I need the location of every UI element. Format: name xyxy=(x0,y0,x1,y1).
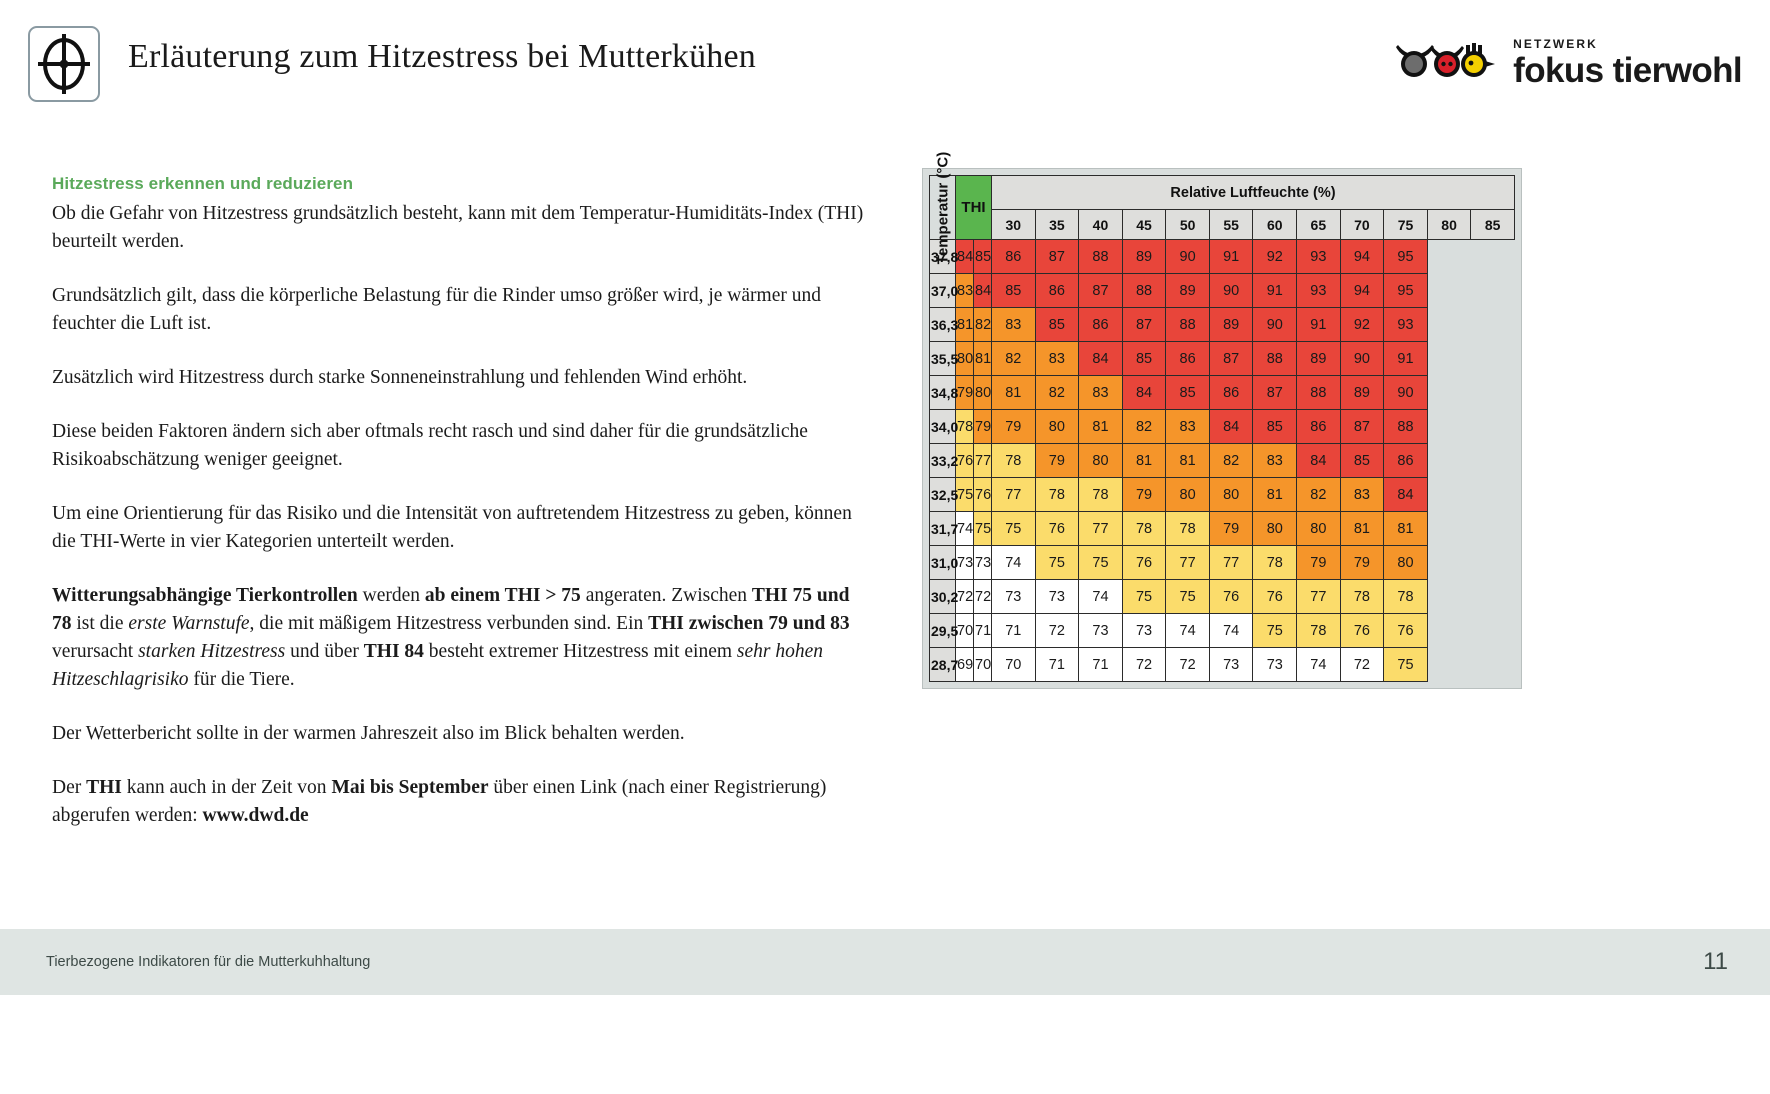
temperature-row-label: 35,5 xyxy=(930,342,956,376)
thi-cell: 90 xyxy=(1166,240,1210,274)
thi-cell: 81 xyxy=(1340,512,1384,546)
thi-cell: 71 xyxy=(1079,648,1123,682)
thi-heatmap-table: Temperatur (°C) THI Relative Luftfeuchte… xyxy=(929,175,1515,682)
thi-cell: 73 xyxy=(1122,614,1166,648)
thi-cell: 79 xyxy=(1035,444,1079,478)
paragraph-1: Ob die Gefahr von Hitzestress grundsätzl… xyxy=(52,200,872,256)
thi-cell: 85 xyxy=(992,274,1036,308)
table-row: 32,5757677787879808081828384 xyxy=(930,478,1515,512)
temperature-row-label: 36,3 xyxy=(930,308,956,342)
brand-logo: NETZWERK fokus tierwohl xyxy=(1392,36,1742,88)
thi-cell: 78 xyxy=(1297,614,1341,648)
thi-cell: 89 xyxy=(1340,376,1384,410)
thi-cell: 84 xyxy=(1122,376,1166,410)
highlight-paragraph: Witterungsabhängige Tierkontrollen werde… xyxy=(52,582,872,694)
thi-cell: 86 xyxy=(1209,376,1253,410)
thi-cell: 77 xyxy=(1297,580,1341,614)
thi-cell: 73 xyxy=(1079,614,1123,648)
thi-cell: 89 xyxy=(1209,308,1253,342)
thi-cell: 90 xyxy=(1340,342,1384,376)
temperature-row-label: 32,5 xyxy=(930,478,956,512)
thi-cell: 81 xyxy=(1079,410,1123,444)
table-row: 37,8848586878889909192939495 xyxy=(930,240,1515,274)
thi-cell: 78 xyxy=(1384,580,1428,614)
hp-s6: ist die xyxy=(72,613,129,634)
thi-cell: 83 xyxy=(956,274,974,308)
thi-cell: 93 xyxy=(1297,240,1341,274)
thi-cell: 88 xyxy=(1384,410,1428,444)
humidity-col-header: 50 xyxy=(1166,210,1210,240)
lp-p3: kann auch in der Zeit von xyxy=(122,777,332,798)
thi-cell: 82 xyxy=(974,308,992,342)
humidity-col-header: 35 xyxy=(1035,210,1079,240)
thi-cell: 91 xyxy=(1209,240,1253,274)
thi-cell: 95 xyxy=(1384,240,1428,274)
thi-cell: 81 xyxy=(1122,444,1166,478)
humidity-col-header: 80 xyxy=(1427,210,1471,240)
thi-cell: 76 xyxy=(974,478,992,512)
table-row: 36,3818283858687888990919293 xyxy=(930,308,1515,342)
thi-cell: 83 xyxy=(992,308,1036,342)
thi-cell: 89 xyxy=(1297,342,1341,376)
thi-table-frame: Temperatur (°C) THI Relative Luftfeuchte… xyxy=(922,168,1522,689)
thi-cell: 73 xyxy=(956,546,974,580)
thi-cell: 94 xyxy=(1340,274,1384,308)
thi-table-zone: Temperatur (°C) THI Relative Luftfeuchte… xyxy=(922,168,1522,689)
thi-cell: 71 xyxy=(992,614,1036,648)
thi-table-head: Temperatur (°C) THI Relative Luftfeuchte… xyxy=(930,176,1515,240)
thi-cell: 83 xyxy=(1079,376,1123,410)
section-subheading: Hitzestress erkennen und reduzieren xyxy=(52,170,872,198)
thi-cell: 93 xyxy=(1297,274,1341,308)
lp-p2: THI xyxy=(86,777,122,798)
paragraph-3: Zusätzlich wird Hitzestress durch starke… xyxy=(52,364,872,392)
thi-cell: 81 xyxy=(974,342,992,376)
thi-cell: 87 xyxy=(1253,376,1297,410)
temperature-row-label: 34,0 xyxy=(930,410,956,444)
page-number: 11 xyxy=(1703,948,1728,976)
logo-text: NETZWERK fokus tierwohl xyxy=(1513,38,1742,88)
thi-cell: 84 xyxy=(1297,444,1341,478)
thi-cell: 77 xyxy=(1166,546,1210,580)
thi-cell: 91 xyxy=(1384,342,1428,376)
thi-cell: 76 xyxy=(1340,614,1384,648)
logo-animal-marks-icon xyxy=(1392,39,1504,86)
thi-cell: 71 xyxy=(974,614,992,648)
thi-cell: 87 xyxy=(1209,342,1253,376)
thi-cell: 71 xyxy=(1035,648,1079,682)
thi-cell: 88 xyxy=(1297,376,1341,410)
thi-cell: 81 xyxy=(1253,478,1297,512)
thi-cell: 75 xyxy=(956,478,974,512)
thi-cell: 82 xyxy=(1209,444,1253,478)
thi-cell: 75 xyxy=(1079,546,1123,580)
thi-cell: 77 xyxy=(1209,546,1253,580)
table-row: 34,8798081828384858687888990 xyxy=(930,376,1515,410)
thi-cell: 85 xyxy=(1253,410,1297,444)
thi-cell: 73 xyxy=(1253,648,1297,682)
thi-cell: 83 xyxy=(1253,444,1297,478)
thi-cell: 80 xyxy=(974,376,992,410)
thi-cell: 86 xyxy=(1166,342,1210,376)
thi-cell: 84 xyxy=(1384,478,1428,512)
thi-cell: 82 xyxy=(1035,376,1079,410)
thi-cell: 91 xyxy=(1297,308,1341,342)
thi-cell: 78 xyxy=(1340,580,1384,614)
humidity-col-header: 55 xyxy=(1209,210,1253,240)
thi-cell: 80 xyxy=(1209,478,1253,512)
thi-cell: 92 xyxy=(1253,240,1297,274)
thi-cell: 86 xyxy=(1079,308,1123,342)
thi-cell: 93 xyxy=(1384,308,1428,342)
humidity-axis-label: Relative Luftfeuchte (%) xyxy=(992,176,1515,210)
logo-main-text: fokus tierwohl xyxy=(1513,53,1742,88)
thi-cell: 85 xyxy=(1340,444,1384,478)
thi-cell: 84 xyxy=(974,274,992,308)
page-footer: Tierbezogene Indikatoren für die Mutterk… xyxy=(0,929,1770,995)
thi-cell: 90 xyxy=(1253,308,1297,342)
thi-cell: 79 xyxy=(956,376,974,410)
thi-cell: 84 xyxy=(1079,342,1123,376)
thi-cell: 88 xyxy=(1253,342,1297,376)
thi-cell: 72 xyxy=(956,580,974,614)
temperature-row-label: 31,0 xyxy=(930,546,956,580)
thi-cell: 87 xyxy=(1079,274,1123,308)
temperature-row-label: 34,8 xyxy=(930,376,956,410)
thi-cell: 79 xyxy=(974,410,992,444)
dwd-link[interactable]: www.dwd.de xyxy=(203,805,309,826)
thi-cell: 72 xyxy=(1122,648,1166,682)
temperature-row-label: 37,0 xyxy=(930,274,956,308)
thi-cell: 69 xyxy=(956,648,974,682)
hp-s4: angeraten. Zwischen xyxy=(581,585,752,606)
thi-cell: 88 xyxy=(1166,308,1210,342)
thi-table-body: 37,884858687888990919293949537,083848586… xyxy=(930,240,1515,682)
thi-cell: 72 xyxy=(974,580,992,614)
thi-cell: 79 xyxy=(1340,546,1384,580)
thi-cell: 74 xyxy=(1209,614,1253,648)
thi-cell: 80 xyxy=(1166,478,1210,512)
thi-cell: 70 xyxy=(992,648,1036,682)
logo-netzwerk-text: NETZWERK xyxy=(1513,38,1742,50)
thi-cell: 84 xyxy=(1209,410,1253,444)
thi-cell: 87 xyxy=(1122,308,1166,342)
humidity-col-header: 60 xyxy=(1253,210,1297,240)
thi-cell: 74 xyxy=(1079,580,1123,614)
thi-cell: 76 xyxy=(1253,580,1297,614)
thi-cell: 83 xyxy=(1166,410,1210,444)
table-row: 37,0838485868788899091939495 xyxy=(930,274,1515,308)
thi-cell: 95 xyxy=(1384,274,1428,308)
thi-cell: 90 xyxy=(1209,274,1253,308)
thi-cell: 78 xyxy=(1035,478,1079,512)
humidity-values-row: 303540455055606570758085 xyxy=(930,210,1515,240)
lp-p4: Mai bis September xyxy=(331,777,488,798)
thi-cell: 91 xyxy=(1253,274,1297,308)
thi-cell: 81 xyxy=(1166,444,1210,478)
thi-cell: 80 xyxy=(956,342,974,376)
table-row: 30,2727273737475757676777878 xyxy=(930,580,1515,614)
table-row: 31,0737374757576777778797980 xyxy=(930,546,1515,580)
thi-cell: 70 xyxy=(974,648,992,682)
thi-cell: 86 xyxy=(1297,410,1341,444)
thi-cell: 73 xyxy=(1209,648,1253,682)
thi-cell: 87 xyxy=(1340,410,1384,444)
hp-s7: erste Warnstufe xyxy=(128,613,249,634)
thi-cell: 94 xyxy=(1340,240,1384,274)
thi-cell: 76 xyxy=(1384,614,1428,648)
thi-cell: 76 xyxy=(956,444,974,478)
humidity-col-header: 65 xyxy=(1297,210,1341,240)
hp-s9: THI zwischen 79 und 83 xyxy=(648,613,850,634)
thi-cell: 87 xyxy=(1035,240,1079,274)
hp-s1: Witterungsabhängige Tierkontrollen xyxy=(52,585,358,606)
table-row: 28,7697070717172727373747275 xyxy=(930,648,1515,682)
thi-cell: 77 xyxy=(974,444,992,478)
page-title: Erläuterung zum Hitzestress bei Mutterkü… xyxy=(128,38,756,76)
footer-title: Tierbezogene Indikatoren für die Mutterk… xyxy=(46,954,370,970)
thi-cell: 79 xyxy=(1122,478,1166,512)
thi-cell: 89 xyxy=(1122,240,1166,274)
paragraph-2: Grundsätzlich gilt, dass die körperliche… xyxy=(52,282,872,338)
paragraph-5: Um eine Orientierung für das Risiko und … xyxy=(52,500,872,556)
thi-cell: 88 xyxy=(1079,240,1123,274)
table-row: 33,2767778798081818283848586 xyxy=(930,444,1515,478)
thi-cell: 85 xyxy=(974,240,992,274)
thi-cell: 81 xyxy=(1384,512,1428,546)
thi-cell: 89 xyxy=(1166,274,1210,308)
thi-cell: 80 xyxy=(1253,512,1297,546)
target-crosshair-icon xyxy=(28,26,100,102)
thi-cell: 75 xyxy=(1166,580,1210,614)
humidity-col-header: 45 xyxy=(1122,210,1166,240)
thi-cell: 82 xyxy=(1122,410,1166,444)
thi-cell: 72 xyxy=(1166,648,1210,682)
humidity-col-header: 30 xyxy=(992,210,1036,240)
thi-cell: 77 xyxy=(1079,512,1123,546)
thi-cell: 74 xyxy=(1297,648,1341,682)
thi-cell: 92 xyxy=(1340,308,1384,342)
thi-cell: 72 xyxy=(1340,648,1384,682)
thi-cell: 85 xyxy=(1035,308,1079,342)
thi-cell: 76 xyxy=(1122,546,1166,580)
thi-cell: 74 xyxy=(992,546,1036,580)
table-row: 35,5808182838485868788899091 xyxy=(930,342,1515,376)
thi-cell: 70 xyxy=(956,614,974,648)
table-row: 29,5707171727373747475787676 xyxy=(930,614,1515,648)
thi-cell: 75 xyxy=(1384,648,1428,682)
lp-p1: Der xyxy=(52,777,86,798)
thi-cell: 78 xyxy=(956,410,974,444)
thi-head-row-1: Temperatur (°C) THI Relative Luftfeuchte… xyxy=(930,176,1515,210)
thi-cell: 85 xyxy=(1166,376,1210,410)
thi-cell: 75 xyxy=(1253,614,1297,648)
hp-s10: verursacht xyxy=(52,641,138,662)
paragraph-4: Diese beiden Faktoren ändern sich aber o… xyxy=(52,418,872,474)
thi-cell: 78 xyxy=(1122,512,1166,546)
temperature-row-label: 31,7 xyxy=(930,512,956,546)
thi-cell: 85 xyxy=(1122,342,1166,376)
temperature-axis-label: Temperatur (°C) xyxy=(930,176,956,240)
thi-cell: 76 xyxy=(1209,580,1253,614)
temperature-row-label: 33,2 xyxy=(930,444,956,478)
thi-cell: 80 xyxy=(1035,410,1079,444)
thi-cell: 82 xyxy=(992,342,1036,376)
thi-cell: 90 xyxy=(1384,376,1428,410)
humidity-col-header: 75 xyxy=(1384,210,1428,240)
thi-cell: 75 xyxy=(1035,546,1079,580)
hp-s2: werden xyxy=(358,585,425,606)
thi-cell: 80 xyxy=(1297,512,1341,546)
humidity-col-header: 40 xyxy=(1079,210,1123,240)
crosshair-svg xyxy=(30,28,98,100)
thi-cell: 81 xyxy=(956,308,974,342)
thi-cell: 78 xyxy=(992,444,1036,478)
thi-cell: 83 xyxy=(1035,342,1079,376)
humidity-col-header: 85 xyxy=(1471,210,1515,240)
link-paragraph: Der THI kann auch in der Zeit von Mai bi… xyxy=(52,774,872,830)
thi-cell: 73 xyxy=(992,580,1036,614)
thi-corner-label: THI xyxy=(956,176,992,240)
temperature-row-label: 30,2 xyxy=(930,580,956,614)
thi-cell: 74 xyxy=(956,512,974,546)
thi-cell: 79 xyxy=(1209,512,1253,546)
thi-cell: 77 xyxy=(992,478,1036,512)
hp-s14: besteht extremer Hitzestress mit einem xyxy=(424,641,737,662)
temperature-row-label: 29,5 xyxy=(930,614,956,648)
thi-cell: 75 xyxy=(1122,580,1166,614)
article-body: Hitzestress erkennen und reduzieren Ob d… xyxy=(52,170,872,830)
thi-cell: 74 xyxy=(1166,614,1210,648)
hp-s8: , die mit mäßigem Hitzestress verbunden … xyxy=(250,613,649,634)
thi-cell: 83 xyxy=(1340,478,1384,512)
thi-cell: 86 xyxy=(1384,444,1428,478)
thi-cell: 81 xyxy=(992,376,1036,410)
thi-cell: 73 xyxy=(1035,580,1079,614)
thi-cell: 82 xyxy=(1297,478,1341,512)
thi-cell: 78 xyxy=(1079,478,1123,512)
hp-s12: und über xyxy=(285,641,364,662)
thi-cell: 80 xyxy=(1384,546,1428,580)
thi-cell: 80 xyxy=(1079,444,1123,478)
thi-cell: 78 xyxy=(1166,512,1210,546)
thi-cell: 76 xyxy=(1035,512,1079,546)
thi-cell: 73 xyxy=(974,546,992,580)
thi-cell: 78 xyxy=(1253,546,1297,580)
thi-cell: 75 xyxy=(992,512,1036,546)
thi-cell: 88 xyxy=(1122,274,1166,308)
temperature-row-label: 28,7 xyxy=(930,648,956,682)
thi-cell: 79 xyxy=(1297,546,1341,580)
thi-cell: 86 xyxy=(1035,274,1079,308)
table-row: 31,7747575767778787980808181 xyxy=(930,512,1515,546)
thi-cell: 79 xyxy=(992,410,1036,444)
paragraph-weather: Der Wetterbericht sollte in der warmen J… xyxy=(52,720,872,748)
hp-s13: THI 84 xyxy=(364,641,424,662)
thi-cell: 84 xyxy=(956,240,974,274)
thi-cell: 72 xyxy=(1035,614,1079,648)
thi-cell: 86 xyxy=(992,240,1036,274)
humidity-col-header: 70 xyxy=(1340,210,1384,240)
page-header: Erläuterung zum Hitzestress bei Mutterkü… xyxy=(0,0,1770,118)
table-row: 34,0787979808182838485868788 xyxy=(930,410,1515,444)
hp-s11: starken Hitzestress xyxy=(138,641,285,662)
hp-s3: ab einem THI > 75 xyxy=(425,585,581,606)
hp-s16: für die Tiere. xyxy=(189,669,295,690)
thi-cell: 75 xyxy=(974,512,992,546)
